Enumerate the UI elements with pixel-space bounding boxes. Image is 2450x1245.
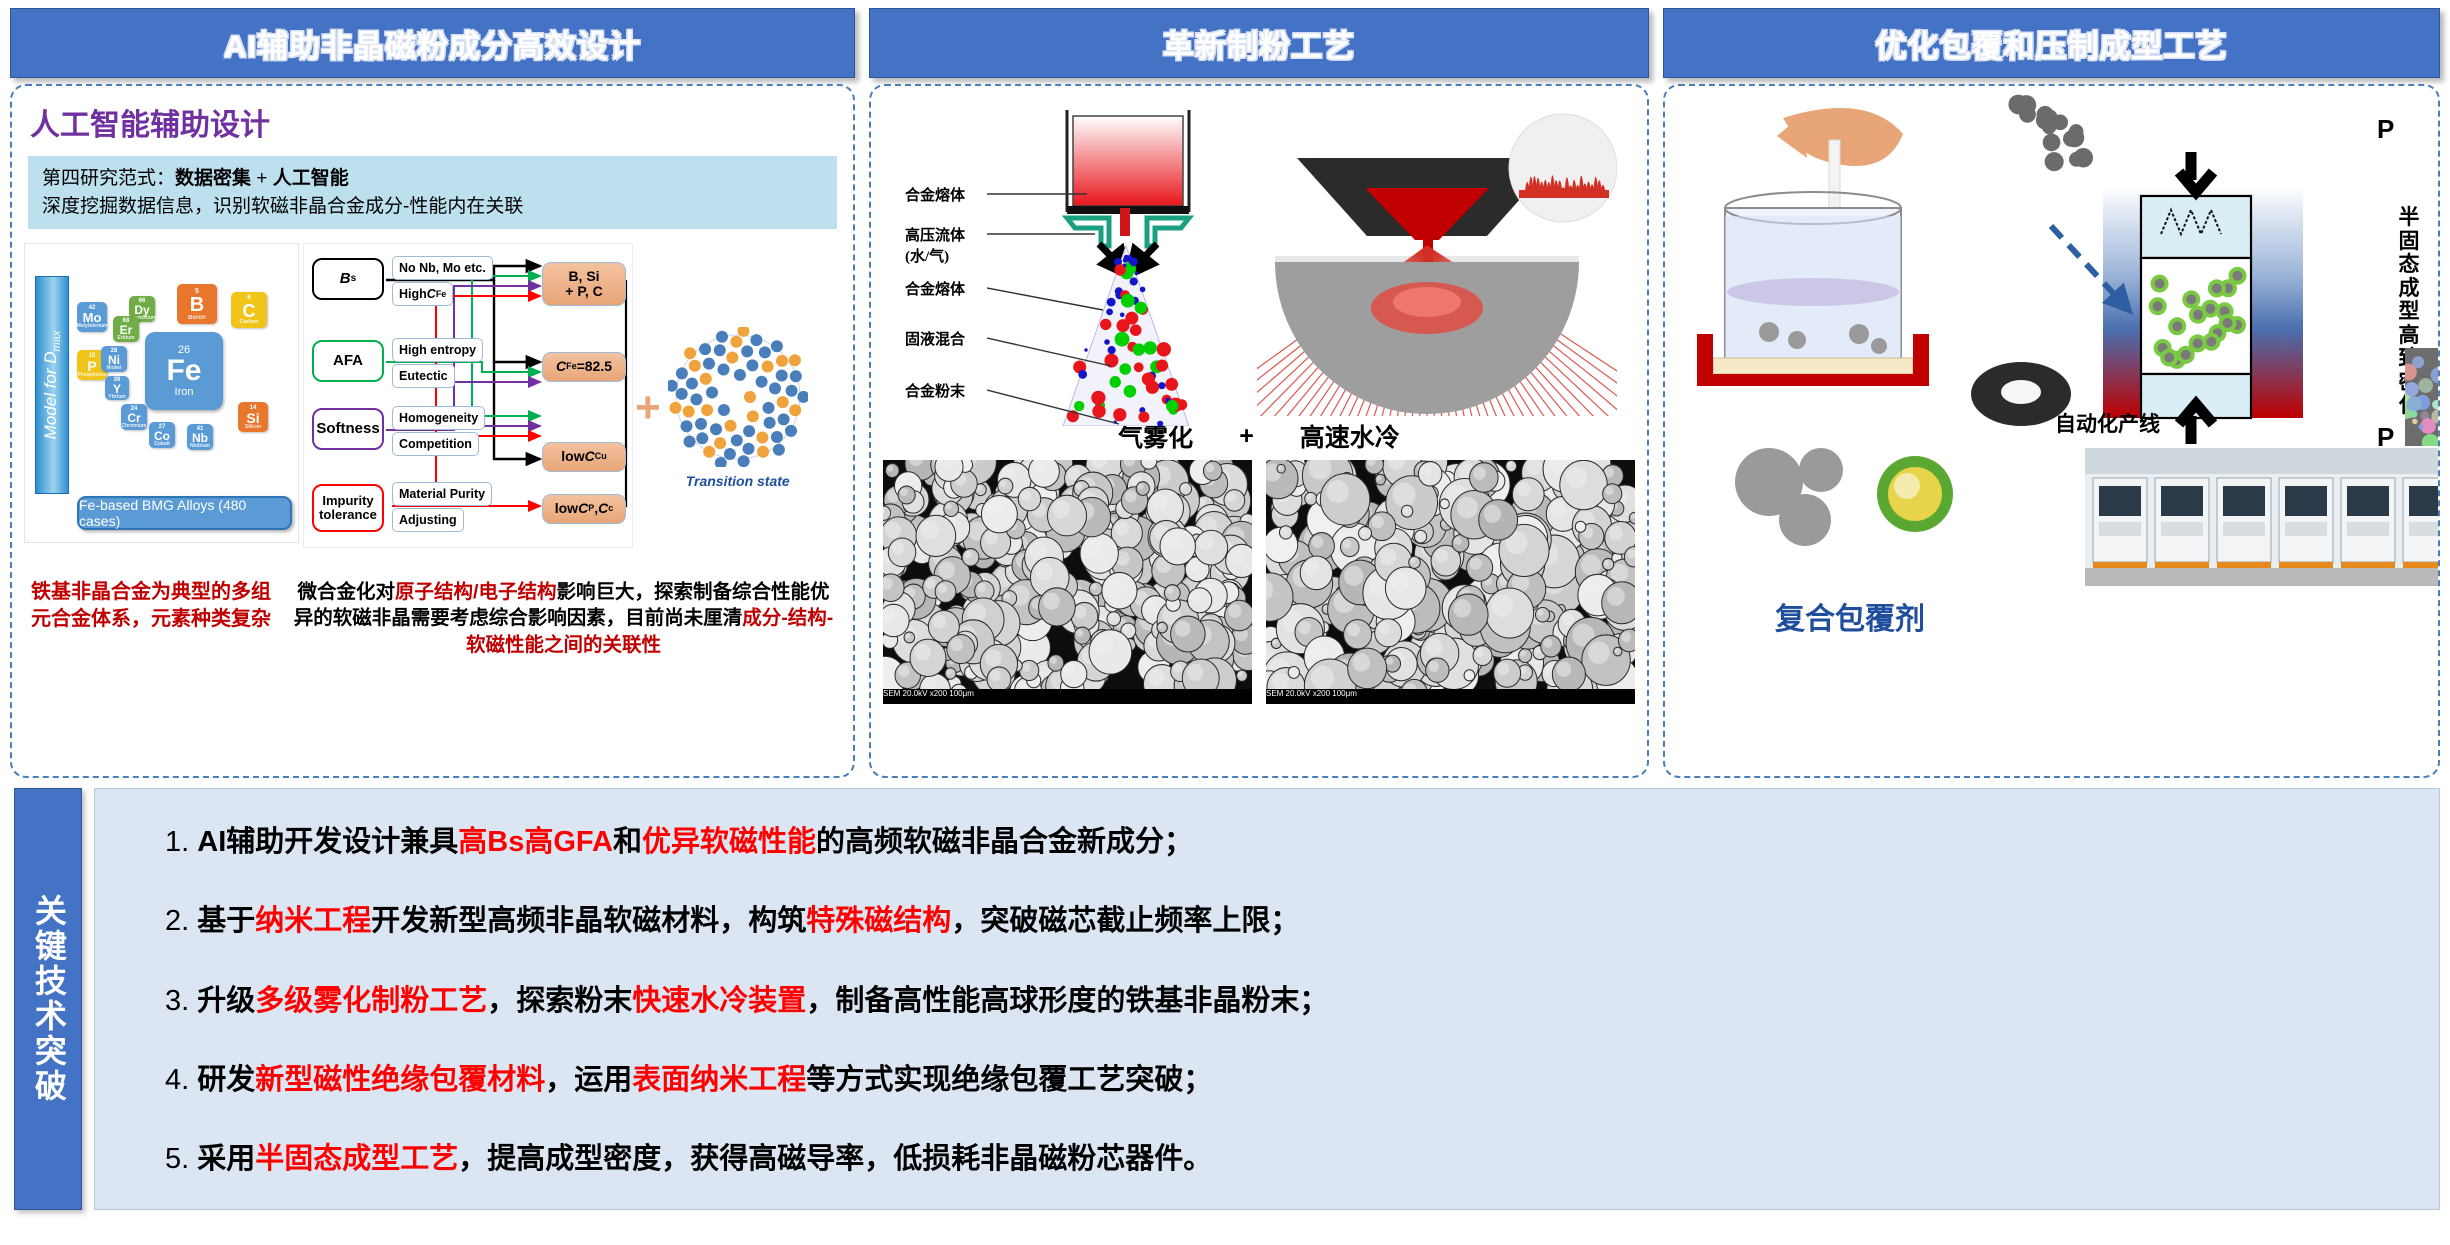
flow-main-0: Bs xyxy=(312,258,384,300)
flow-sub-0-1: High CFe xyxy=(392,282,453,306)
key-item-number: 2. xyxy=(165,905,197,937)
banner-coating-forming: 优化包覆和压制成型工艺 xyxy=(1663,8,2440,78)
automation-line-label: 自动化产线 xyxy=(2055,408,2160,438)
banner-title-2: 革新制粉工艺 xyxy=(1163,21,1355,66)
atomize-label-2: 合金熔体 xyxy=(905,278,965,299)
water-cooling-schematic xyxy=(1257,96,1641,416)
panel1-footnotes: 铁基非晶合金为典型的多组元合金体系，元素种类复杂 微合金化对原子结构/电子结构影… xyxy=(12,573,853,658)
atomization-figures: 合金熔体高压流体(水/气)合金熔体固液混合合金粉末 xyxy=(871,86,1647,416)
header-banner-row: AI辅助非晶磁粉成分高效设计 革新制粉工艺 优化包覆和压制成型工艺 xyxy=(0,0,2450,78)
key-breakthrough-section: 关键技术突破 1. AI辅助开发设计兼具高Bs高GFA和优异软磁性能的高频软磁非… xyxy=(0,778,2450,1218)
panel-powder-process: 合金熔体高压流体(水/气)合金熔体固液混合合金粉末 xyxy=(869,84,1649,778)
automation-line-photo xyxy=(2085,448,2440,586)
flow-sub-3-0: Material Purity xyxy=(392,482,492,506)
flow-sub-2-1: Competition xyxy=(392,432,479,456)
transition-state-card: Transition state xyxy=(663,243,813,573)
composite-coating-label: 复合包覆剂 xyxy=(1775,594,1925,638)
model-ribbon: Model for Dmax xyxy=(35,276,69,494)
panel1-note-left: 铁基非晶合金为典型的多组元合金体系，元素种类复杂 xyxy=(26,579,276,658)
gas-atomization-schematic: 合金熔体高压流体(水/气)合金熔体固液混合合金粉末 xyxy=(877,96,1257,416)
element-er: 68ErErbium xyxy=(113,316,139,342)
note-seg1: 微合金化对 xyxy=(298,581,396,603)
ai-info-bold1: 数据密集 xyxy=(175,168,251,189)
key-item-number: 4. xyxy=(165,1064,197,1096)
bmg-dataset-pill: Fe-based BMG Alloys (480 cases) xyxy=(77,496,292,530)
model-card: Model for Dmax 5BBoron6CCarbon14SiSilico… xyxy=(24,243,299,543)
fe-symbol: Fe xyxy=(166,356,201,386)
element-nb: 41NbNiobium xyxy=(187,424,213,450)
key-item-number: 5. xyxy=(165,1143,197,1175)
flow-main-2: Softness xyxy=(312,408,384,450)
banner-powder-process: 革新制粉工艺 xyxy=(869,8,1649,78)
element-ni: 28NiNickel xyxy=(101,346,127,372)
flow-sub-1-1: Eutectic xyxy=(392,364,455,388)
sem-inset-image xyxy=(2405,348,2440,446)
sem-scalebar-left: SEM 20.0kV x200 100μm xyxy=(883,689,1252,704)
ai-info-box: 第四研究范式：数据密集 + 人工智能 深度挖掘数据信息，识别软磁非晶合金成分-性… xyxy=(28,156,837,229)
key-item-number: 3. xyxy=(165,985,197,1017)
banner-title-3: 优化包覆和压制成型工艺 xyxy=(1876,21,2228,66)
element-y: 39YYttrium xyxy=(105,376,129,400)
ai-figure-row: Model for Dmax 5BBoron6CCarbon14SiSilico… xyxy=(12,243,853,573)
element-si: 14SiSilicon xyxy=(238,402,268,432)
sem-scalebar-right: SEM 20.0kV x200 100μm xyxy=(1266,689,1635,704)
element-cr: 24CrChromium xyxy=(121,404,147,430)
flow-main-1: AFA xyxy=(312,340,384,382)
coated-powder-figure xyxy=(1725,436,2025,566)
model-ribbon-label: Model for Dmax xyxy=(41,331,63,440)
transition-state-label: Transition state xyxy=(686,473,790,489)
panel-row: 人工智能辅助设计 第四研究范式：数据密集 + 人工智能 深度挖掘数据信息，识别软… xyxy=(0,78,2450,778)
atom-cluster-icon xyxy=(668,327,808,467)
caption-water-cooling: 高速水冷 xyxy=(1300,418,1400,454)
fe-name: Iron xyxy=(175,386,194,398)
key-item-5: 5. 采用半固态成型工艺，提高成型密度，获得高磁导率，低损耗非晶磁粉芯器件。 xyxy=(165,1142,2409,1177)
element-c: 6CCarbon xyxy=(231,292,267,328)
panel-ai-design: 人工智能辅助设计 第四研究范式：数据密集 + 人工智能 深度挖掘数据信息，识别软… xyxy=(10,84,855,778)
key-item-4: 4. 研发新型磁性绝缘包覆材料，运用表面纳米工程等方式实现绝缘包覆工艺突破； xyxy=(165,1063,2409,1098)
key-item-2: 2. 基于纳米工程开发新型高频非晶软磁材料，构筑特殊磁结构，突破磁芯截止频率上限… xyxy=(165,904,2409,939)
ai-section-title: 人工智能辅助设计 xyxy=(30,100,853,144)
banner-title-1: AI辅助非晶磁粉成分高效设计 xyxy=(224,21,641,66)
key-item-3: 3. 升级多级雾化制粉工艺，探索粉末快速水冷装置，制备高性能高球形度的铁基非晶粉… xyxy=(165,984,2409,1019)
atomize-label-1: 高压流体(水/气) xyxy=(905,224,965,266)
key-item-1: 1. AI辅助开发设计兼具高Bs高GFA和优异软磁性能的高频软磁非晶合金新成分； xyxy=(165,825,2409,860)
flow-main-3: Impuritytolerance xyxy=(312,484,384,532)
element-co: 27CoCobalt xyxy=(149,422,175,448)
beaker-drawing xyxy=(1673,96,2003,426)
panel1-note-right: 微合金化对原子结构/电子结构影响巨大，探索制备综合性能优异的软磁非晶需要考虑综合… xyxy=(288,579,839,658)
note-hl1: 原子结构/电子结构 xyxy=(395,581,556,603)
key-breakthrough-tab: 关键技术突破 xyxy=(14,788,82,1210)
element-mo: 42MoMolybdenum xyxy=(77,302,107,332)
water-quench-drawing xyxy=(1257,96,1617,416)
key-tab-label: 关键技术突破 xyxy=(30,894,66,1104)
flow-output-1: CFe=82.5 xyxy=(542,352,626,382)
beaker-stirring-figure xyxy=(1673,96,2003,426)
sem-image-row: SEM 20.0kV x200 100μm SEM 20.0kV x200 10… xyxy=(871,454,1647,704)
key-breakthrough-list: 1. AI辅助开发设计兼具高Bs高GFA和优异软磁性能的高频软磁非晶合金新成分；… xyxy=(94,788,2440,1210)
key-item-number: 1. xyxy=(165,826,197,858)
element-fe-large: 26 Fe Iron xyxy=(145,332,223,410)
ai-info-plus: + xyxy=(251,168,273,189)
flow-sub-0-0: No Nb, Mo etc. xyxy=(392,256,493,280)
atomize-label-3: 固液混合 xyxy=(905,328,965,349)
ai-info-prefix: 第四研究范式： xyxy=(42,168,175,189)
ai-info-line1: 第四研究范式：数据密集 + 人工智能 xyxy=(42,165,823,193)
atomize-label-4: 合金粉末 xyxy=(905,380,965,401)
panel-coating-forming: P P 半固态成型高致密化 复合 xyxy=(1663,84,2440,778)
plus-sign-panel1: + xyxy=(635,383,661,433)
flow-sub-2-0: Homogeneity xyxy=(392,406,485,430)
flow-output-3: low CP, Cc xyxy=(542,494,626,524)
flow-sub-1-0: High entropy xyxy=(392,338,483,362)
flow-output-2: low CCu xyxy=(542,442,626,472)
sem-image-gas: SEM 20.0kV x200 100μm xyxy=(883,460,1252,704)
banner-ai-design: AI辅助非晶磁粉成分高效设计 xyxy=(10,8,855,78)
design-flowchart: BsNo Nb, Mo etc.High CFeAFAHigh entropyE… xyxy=(303,243,633,548)
flow-sub-3-1: Adjusting xyxy=(392,508,464,532)
flow-output-0: B, Si+ P, C xyxy=(542,262,626,306)
pressure-label-top: P xyxy=(2377,114,2394,145)
ai-info-bold2: 人工智能 xyxy=(273,168,349,189)
ai-info-line2: 深度挖掘数据信息，识别软磁非晶合金成分-性能内在关联 xyxy=(42,193,823,221)
atomize-label-0: 合金熔体 xyxy=(905,184,965,205)
sem-image-water: SEM 20.0kV x200 100μm xyxy=(1266,460,1635,704)
element-b: 5BBoron xyxy=(177,284,217,324)
panel3-canvas: P P 半固态成型高致密化 复合 xyxy=(1665,86,2438,776)
